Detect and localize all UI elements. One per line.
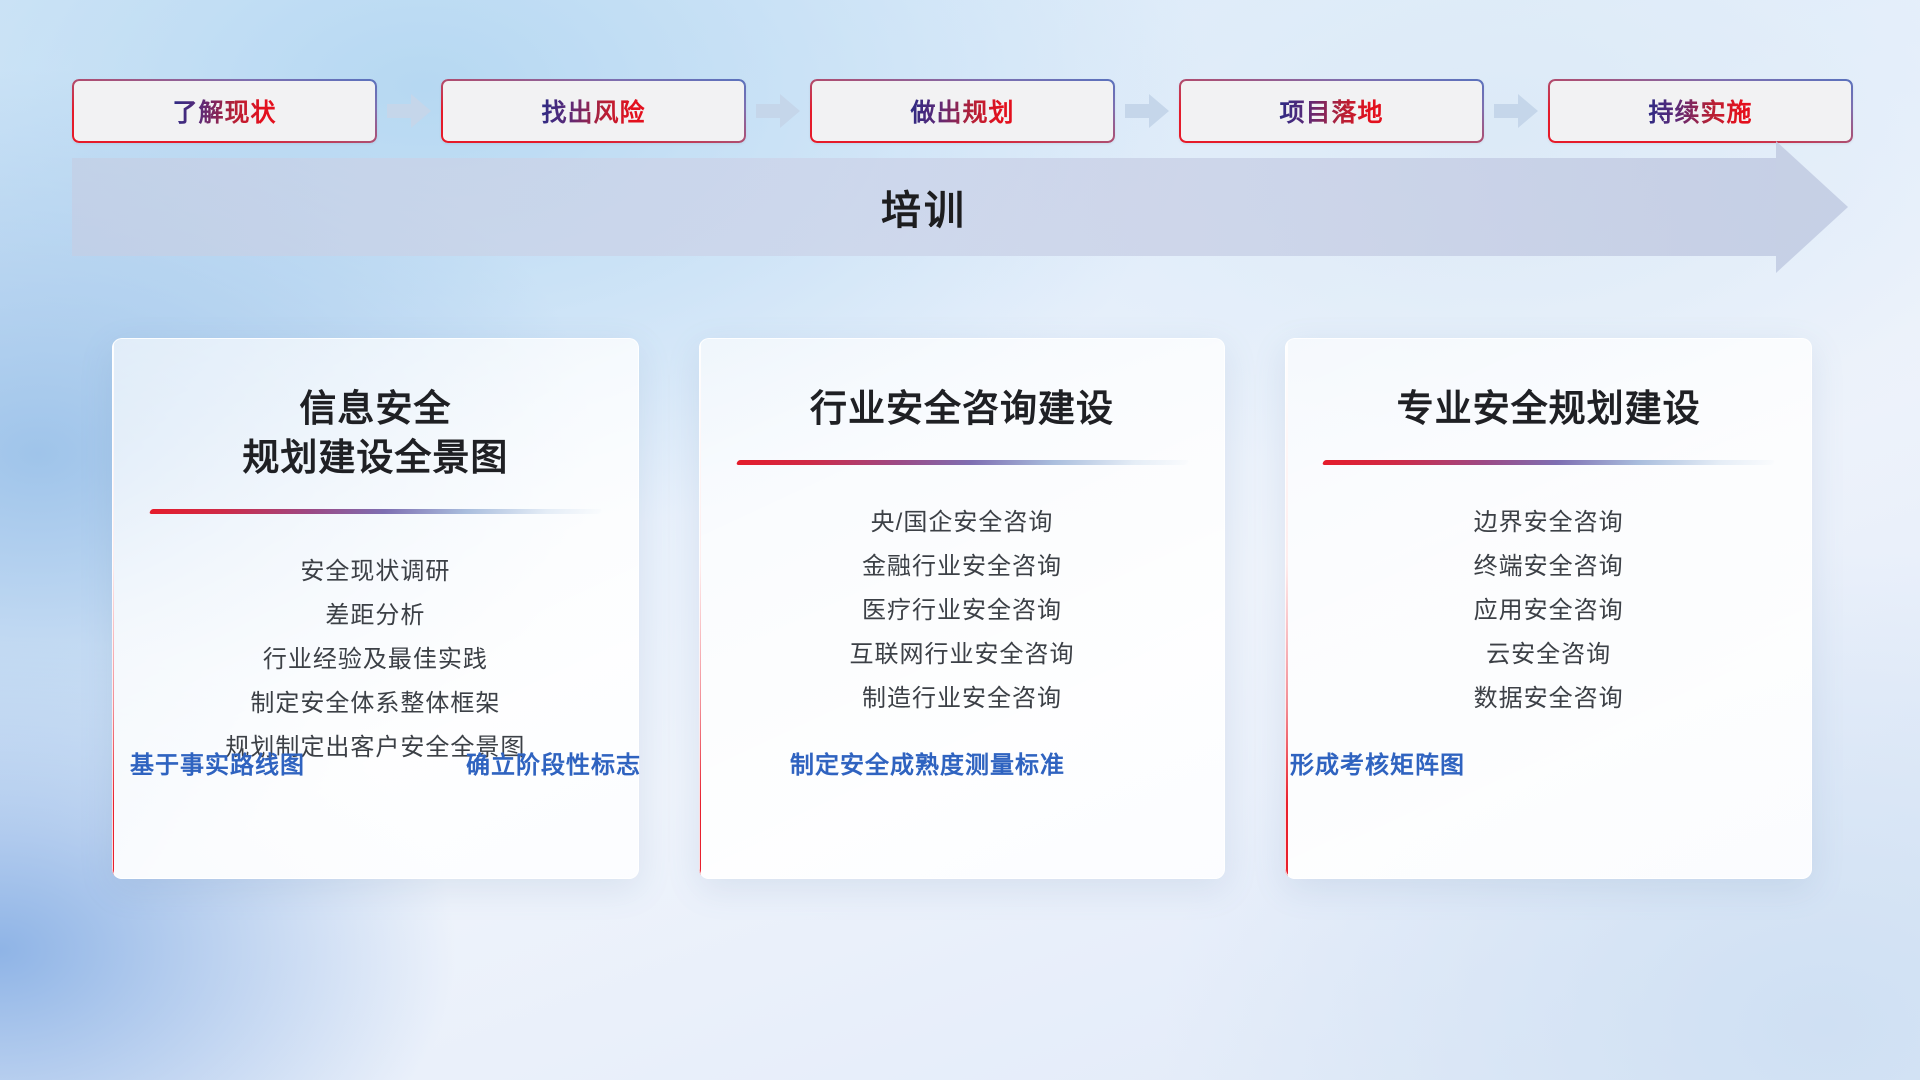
caption-2: 确立阶段性标志 bbox=[466, 745, 641, 780]
card-left-accent bbox=[699, 338, 701, 879]
card-title: 行业安全咨询建设 bbox=[699, 338, 1226, 434]
step-box-5[interactable]: 持续实施 bbox=[1548, 79, 1853, 143]
caption-4: 形成考核矩阵图 bbox=[1290, 745, 1465, 780]
list-item: 边界安全咨询 bbox=[1309, 501, 1788, 545]
card-title: 信息安全 规划建设全景图 bbox=[112, 338, 639, 483]
card-information-security-blueprint[interactable]: 信息安全 规划建设全景图 安全现状调研 差距分析 行业经验及最佳实践 制定安全体… bbox=[112, 338, 639, 879]
list-item: 终端安全咨询 bbox=[1309, 545, 1788, 589]
list-item: 应用安全咨询 bbox=[1309, 589, 1788, 633]
step-box-4[interactable]: 项目落地 bbox=[1179, 79, 1484, 143]
list-item: 医疗行业安全咨询 bbox=[723, 589, 1202, 633]
step-label-1: 了解现状 bbox=[172, 93, 276, 129]
caption-3: 制定安全成熟度测量标准 bbox=[790, 745, 1065, 780]
list-item: 央/国企安全咨询 bbox=[723, 501, 1202, 545]
list-item: 云安全咨询 bbox=[1309, 633, 1788, 677]
banner-title: 培训 bbox=[72, 158, 1776, 256]
card-left-accent bbox=[1285, 338, 1287, 879]
list-item: 数据安全咨询 bbox=[1309, 677, 1788, 721]
list-item: 安全现状调研 bbox=[136, 550, 615, 594]
list-item: 金融行业安全咨询 bbox=[723, 545, 1202, 589]
card-professional-security-planning[interactable]: 专业安全规划建设 边界安全咨询 终端安全咨询 应用安全咨询 云安全咨询 数据安全… bbox=[1285, 338, 1812, 879]
step-label-4: 项目落地 bbox=[1279, 93, 1383, 129]
list-item: 制造行业安全咨询 bbox=[723, 677, 1202, 721]
caption-row: 基于事实路线图 确立阶段性标志 制定安全成熟度测量标准 形成考核矩阵图 bbox=[0, 745, 1920, 789]
arrow-right-icon bbox=[1115, 91, 1179, 131]
training-banner: 培训 bbox=[72, 158, 1848, 256]
card-title: 专业安全规划建设 bbox=[1285, 338, 1812, 434]
arrow-right-icon bbox=[1484, 91, 1548, 131]
step-box-3[interactable]: 做出规划 bbox=[810, 79, 1115, 143]
step-box-1[interactable]: 了解现状 bbox=[72, 79, 377, 143]
step-label-3: 做出规划 bbox=[910, 93, 1014, 129]
card-item-list: 央/国企安全咨询 金融行业安全咨询 医疗行业安全咨询 互联网行业安全咨询 制造行… bbox=[699, 465, 1226, 765]
list-item: 制定安全体系整体框架 bbox=[136, 682, 615, 726]
step-box-2[interactable]: 找出风险 bbox=[441, 79, 746, 143]
card-left-accent bbox=[112, 338, 114, 879]
process-step-row: 了解现状 找出风险 做出规划 项目落地 bbox=[72, 79, 1852, 143]
step-label-5: 持续实施 bbox=[1648, 93, 1752, 129]
card-industry-security-consulting[interactable]: 行业安全咨询建设 央/国企安全咨询 金融行业安全咨询 医疗行业安全咨询 互联网行… bbox=[699, 338, 1226, 879]
slide-canvas: 了解现状 找出风险 做出规划 项目落地 bbox=[0, 0, 1920, 1080]
card-divider bbox=[149, 509, 602, 514]
caption-1: 基于事实路线图 bbox=[130, 745, 305, 780]
card-item-list: 边界安全咨询 终端安全咨询 应用安全咨询 云安全咨询 数据安全咨询 bbox=[1285, 465, 1812, 765]
list-item: 互联网行业安全咨询 bbox=[723, 633, 1202, 677]
card-row: 信息安全 规划建设全景图 安全现状调研 差距分析 行业经验及最佳实践 制定安全体… bbox=[112, 338, 1812, 879]
card-divider bbox=[735, 460, 1188, 465]
banner-arrowhead-icon bbox=[1776, 141, 1848, 273]
step-label-2: 找出风险 bbox=[541, 93, 645, 129]
arrow-right-icon bbox=[377, 91, 441, 131]
list-item: 差距分析 bbox=[136, 594, 615, 638]
arrow-right-icon bbox=[746, 91, 810, 131]
list-item: 行业经验及最佳实践 bbox=[136, 638, 615, 682]
card-divider bbox=[1322, 460, 1775, 465]
